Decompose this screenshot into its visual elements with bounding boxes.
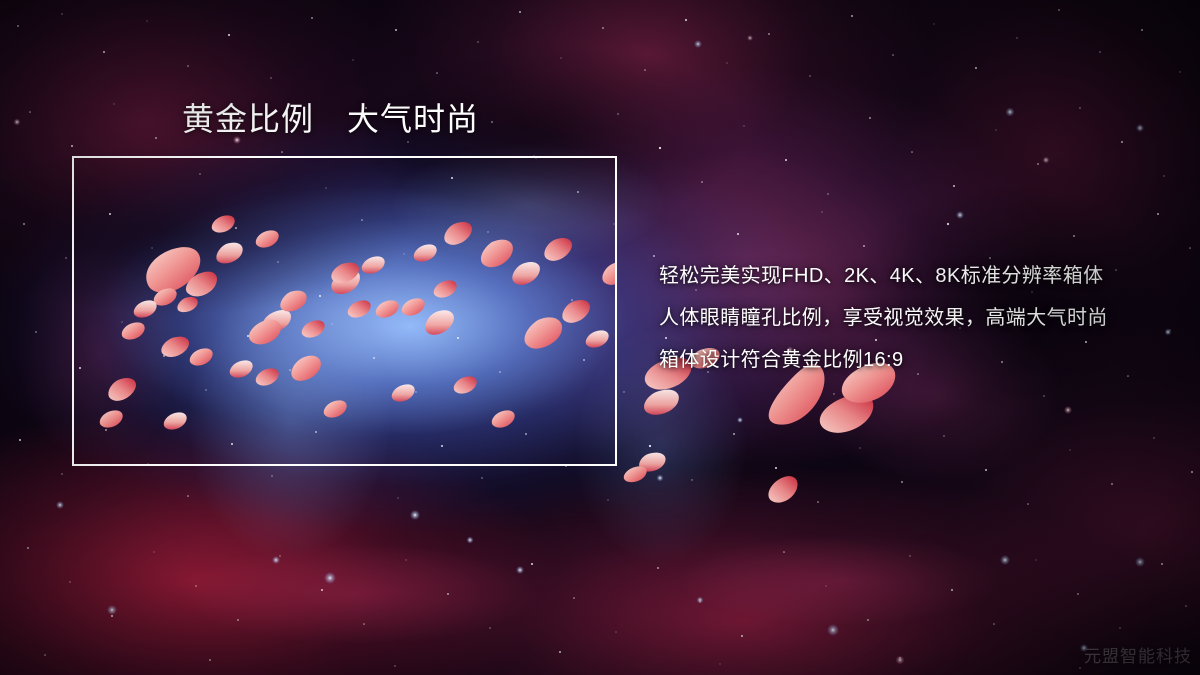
preview-frame-content — [72, 156, 617, 466]
description-text-block: 轻松完美实现FHD、2K、4K、8K标准分辨率箱体 人体眼睛瞳孔比例，享受视觉效… — [659, 255, 1179, 381]
description-line: 箱体设计符合黄金比例16:9 — [659, 339, 1179, 381]
watermark: 元盟智能科技 — [1084, 642, 1192, 667]
preview-rose-petals — [72, 156, 617, 466]
description-line: 轻松完美实现FHD、2K、4K、8K标准分辨率箱体 — [659, 255, 1179, 297]
page-title: 黄金比例 大气时尚 — [182, 101, 479, 139]
description-line: 人体眼睛瞳孔比例，享受视觉效果，高端大气时尚 — [659, 297, 1179, 339]
presentation-slide: 黄金比例 大气时尚 轻松完美实现FHD、2K、4K、8K标准分辨率箱体 人体眼睛… — [0, 0, 1200, 675]
preview-frame[interactable] — [72, 156, 617, 466]
